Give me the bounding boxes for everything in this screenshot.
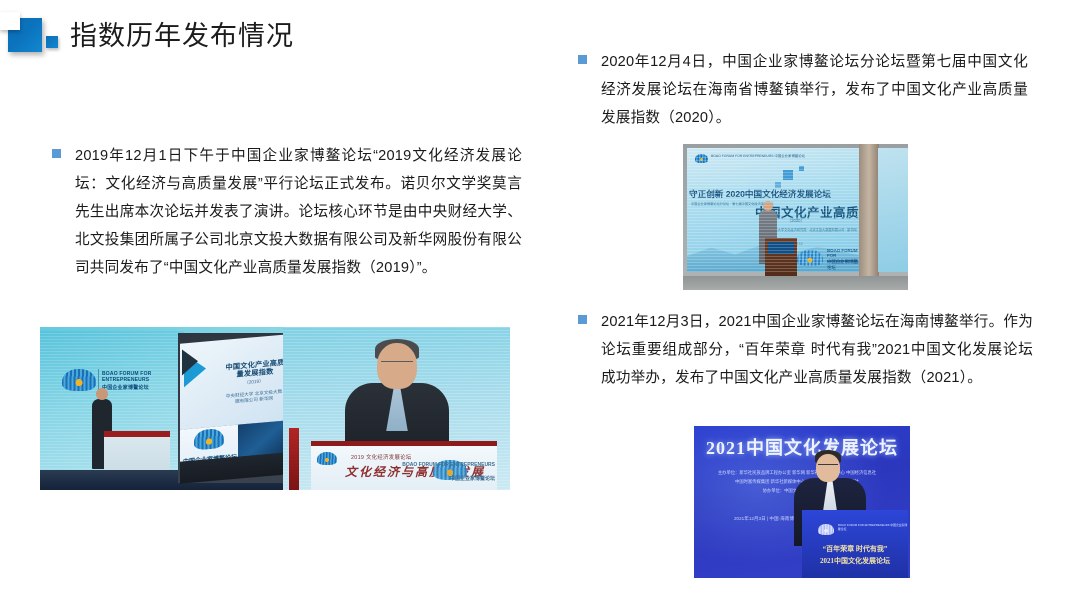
boao-bird-logo-icon xyxy=(797,250,823,266)
boao-bird-logo-icon xyxy=(818,524,834,535)
banner-date: 2021年12月3日 | 中国·海南博鳌 xyxy=(734,516,799,522)
hall-pillar xyxy=(859,144,879,290)
logo-square-small xyxy=(46,36,58,48)
banner-organizers-line-1: 主办单位：新华社民族品牌工程办公室 新华网 新华社新闻信息中心 中国经济信息社 xyxy=(704,468,890,477)
speaker-glasses xyxy=(818,464,838,470)
arrow-graphic-dark xyxy=(182,348,198,375)
led-backdrop: BOAO FORUM FOR ENTREPRENEURS 中国企业家博鳌论坛 守… xyxy=(687,148,859,272)
left-banner-subtitle: 中国企业家博鳌论坛分论坛 · 第七届中国文化经济发展论坛 xyxy=(691,202,787,207)
hall-floor xyxy=(683,276,908,290)
podium-line-2: 2021中国文化发展论坛 xyxy=(802,556,908,566)
backdrop-logo-text-cn: 中国企业家博鳌论坛 xyxy=(102,385,174,391)
mountain-graphic xyxy=(687,230,859,272)
photo-2020-forum: BOAO FORUM FOR ENTREPRENEURS 中国企业家博鳌论坛 守… xyxy=(683,144,908,290)
red-stage-post xyxy=(289,428,299,490)
photo-2019-left-pane: BOAO FORUM FOR ENTREPRENEURS 中国企业家博鳌论坛 中… xyxy=(40,327,283,490)
boao-bird-logo-icon xyxy=(194,428,224,451)
podium-logo-text-cn: 中国企业家博鳌论坛 xyxy=(450,476,495,482)
screen-date: 2020.12 xyxy=(791,242,803,246)
led-wall: 中国文化产业高质量发展指数 （2019） 中央财经大学 北京文投大数据有限公司 … xyxy=(178,333,283,483)
boao-bird-logo-icon xyxy=(62,369,96,391)
podium-logo-text: BOAO FORUM FOR ENTREPRENEURS 中国企业家博鳌论坛 xyxy=(838,524,908,531)
paragraph-2021-text: 2021年12月3日，2021中国企业家博鳌论坛在海南博鳌举行。作为论坛重要组成… xyxy=(601,308,1033,392)
bullet-marker-icon xyxy=(578,315,587,324)
banner-organizers-line-2: 中国时富传媒集团 新华社新媒体中心 新华每日电讯 经济参考报社 xyxy=(704,477,890,486)
backdrop-logo-text-en: BOAO FORUM FOR ENTREPRENEURS xyxy=(102,371,174,383)
slide-header: 指数历年发布情况 xyxy=(0,8,294,64)
bullet-item-2019: 2019年12月1日下午于中国企业家博鳌论坛“2019文化经济发展论坛：文化经济… xyxy=(52,142,522,282)
decor-square xyxy=(775,182,781,188)
bullet-marker-icon xyxy=(578,55,587,64)
wall-slide: 中国文化产业高质量发展指数 （2019） 中央财经大学 北京文投大数据有限公司 … xyxy=(180,334,283,429)
bullet-item-2021: 2021年12月3日，2021中国企业家博鳌论坛在海南博鳌举行。作为论坛重要组成… xyxy=(578,308,1033,392)
screen-organizers: 中央财经大学文化经济研究院 · 北京文投大数据有限公司 · 新华网 xyxy=(765,228,857,233)
bullet-marker-icon xyxy=(52,149,61,158)
logo-mark xyxy=(0,12,60,60)
podium: BOAO FORUM FOR ENTREPRENEURS 中国企业家博鳌论坛 “… xyxy=(802,510,908,578)
logo-square-white xyxy=(0,12,20,30)
decor-square xyxy=(799,166,804,171)
decor-square xyxy=(783,170,793,180)
right-led-panel xyxy=(878,148,908,272)
banner-title: 2021中国文化发展论坛 xyxy=(694,434,910,460)
screen-subtitle: （2020） xyxy=(787,218,805,224)
podium-logo-text-en: BOAO FORUM FOR ENTREPRENEURS xyxy=(402,462,495,468)
podium-line-1: 2019 文化经济发展论坛 xyxy=(351,453,412,461)
podium-screen xyxy=(768,242,794,254)
speaker-glasses xyxy=(381,361,413,369)
podium-line-1: “百年荣章 时代有我” xyxy=(802,544,908,554)
paragraph-2020-text: 2020年12月4日，中国企业家博鳌论坛分论坛暨第七届中国文化经济发展论坛在海南… xyxy=(601,48,1028,132)
page-title: 指数历年发布情况 xyxy=(70,23,294,50)
slide-screen-org: 中央财经大学 北京文投大数据有限公司 新华网 xyxy=(224,389,283,406)
boao-bird-logo-icon xyxy=(695,154,708,163)
boao-bird-logo-icon xyxy=(317,452,337,465)
bullet-item-2020: 2020年12月4日，中国企业家博鳌论坛分论坛暨第七届中国文化经济发展论坛在海南… xyxy=(578,48,1028,132)
speaker-figure xyxy=(759,210,777,264)
photo-2021-forum: 2021中国文化发展论坛 主办单位：新华社民族品牌工程办公室 新华网 新华社新闻… xyxy=(694,426,910,578)
left-banner-title: 守正创新 2020中国文化经济发展论坛 xyxy=(689,188,831,200)
photo-2019-right-pane: 2019 文化经济发展论坛 文化经济与高质量发展 BOAO FORUM FOR … xyxy=(283,327,510,490)
photo-2019-forum: BOAO FORUM FOR ENTREPRENEURS 中国企业家博鳌论坛 中… xyxy=(40,327,510,490)
backdrop-header-text: BOAO FORUM FOR ENTREPRENEURS 中国企业家博鳌论坛 xyxy=(711,154,805,158)
paragraph-2019-text: 2019年12月1日下午于中国企业家博鳌论坛“2019文化经济发展论坛：文化经济… xyxy=(75,142,522,282)
podium-banner: 2019 文化经济发展论坛 文化经济与高质量发展 BOAO FORUM FOR … xyxy=(311,441,497,490)
footer-logo-text-cn: 中国企业家博鳌论坛 xyxy=(827,259,859,270)
